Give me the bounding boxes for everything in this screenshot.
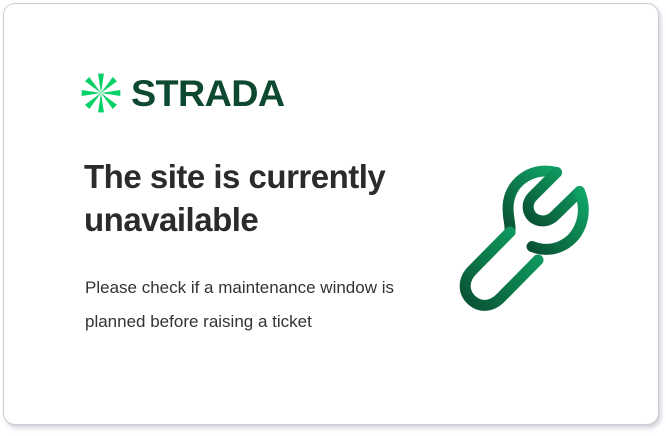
brand-logo: STRADA [80, 72, 282, 114]
page-root: STRADA The site is currently unavailable… [0, 0, 666, 436]
status-card: STRADA The site is currently unavailable… [3, 3, 659, 425]
page-title: The site is currently unavailable [84, 156, 424, 242]
page-description: Please check if a maintenance window is … [85, 271, 395, 339]
strada-asterisk-icon [80, 72, 122, 114]
wrench-icon [456, 152, 616, 317]
brand-wordmark: STRADA [131, 75, 285, 112]
